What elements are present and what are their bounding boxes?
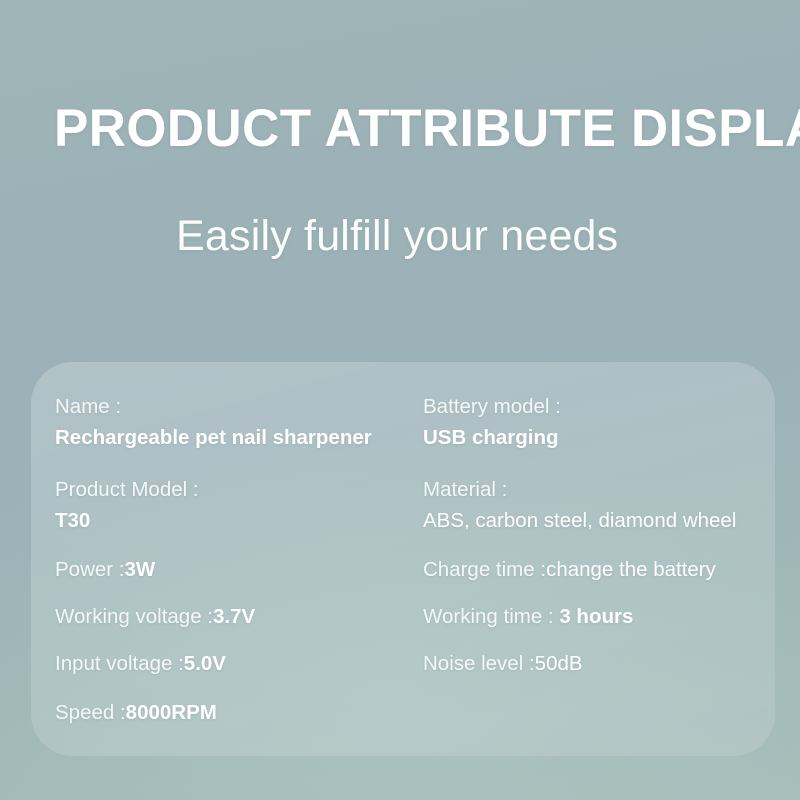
spec-row: Charge time :change the battery xyxy=(423,556,783,584)
spec-row: Name :Rechargeable pet nail sharpener xyxy=(55,393,415,452)
spec-row: Power :3W xyxy=(55,556,415,584)
spec-row: Input voltage :5.0V xyxy=(55,650,415,678)
spec-row: Speed :8000RPM xyxy=(55,699,415,727)
product-attribute-poster: PRODUCT ATTRIBUTE DISPLAY Easily fulfill… xyxy=(0,0,800,800)
spec-label: Speed : xyxy=(55,701,126,724)
spec-value: 50dB xyxy=(535,652,583,675)
spec-value: change the battery xyxy=(546,558,716,581)
spec-label: Charge time : xyxy=(423,558,546,581)
spec-label: Input voltage : xyxy=(55,652,184,675)
spec-row: Working voltage :3.7V xyxy=(55,603,415,631)
spec-value: USB charging xyxy=(423,424,783,452)
spec-label: Noise level : xyxy=(423,652,535,675)
page-title: PRODUCT ATTRIBUTE DISPLAY xyxy=(54,98,752,160)
specification-card: Name :Rechargeable pet nail sharpenerPro… xyxy=(31,362,775,756)
spec-label: Name : xyxy=(55,393,415,421)
spec-value: 8000RPM xyxy=(126,701,217,724)
page-subtitle: Easily fulfill your needs xyxy=(176,209,618,263)
spec-row: Noise level :50dB xyxy=(423,650,783,678)
spec-label: Working time : xyxy=(423,605,559,628)
spec-label: Product Model : xyxy=(55,476,415,504)
spec-value: ABS, carbon steel, diamond wheel xyxy=(423,507,783,535)
spec-row: Working time : 3 hours xyxy=(423,603,783,631)
spec-label: Working voltage : xyxy=(55,605,213,628)
spec-value: 3.7V xyxy=(213,605,255,628)
spec-value: Rechargeable pet nail sharpener xyxy=(55,424,415,452)
spec-value: 3W xyxy=(125,558,156,581)
spec-row: Battery model :USB charging xyxy=(423,393,783,452)
spec-column-left: Name :Rechargeable pet nail sharpenerPro… xyxy=(55,362,405,756)
spec-value: 3 hours xyxy=(559,605,633,628)
spec-value: 5.0V xyxy=(184,652,226,675)
spec-row: Material :ABS, carbon steel, diamond whe… xyxy=(423,476,783,535)
spec-label: Material : xyxy=(423,476,783,504)
spec-label: Battery model : xyxy=(423,393,783,421)
spec-column-right: Battery model :USB chargingMaterial :ABS… xyxy=(423,362,773,756)
spec-value: T30 xyxy=(55,507,415,535)
spec-row: Product Model :T30 xyxy=(55,476,415,535)
spec-label: Power : xyxy=(55,558,125,581)
